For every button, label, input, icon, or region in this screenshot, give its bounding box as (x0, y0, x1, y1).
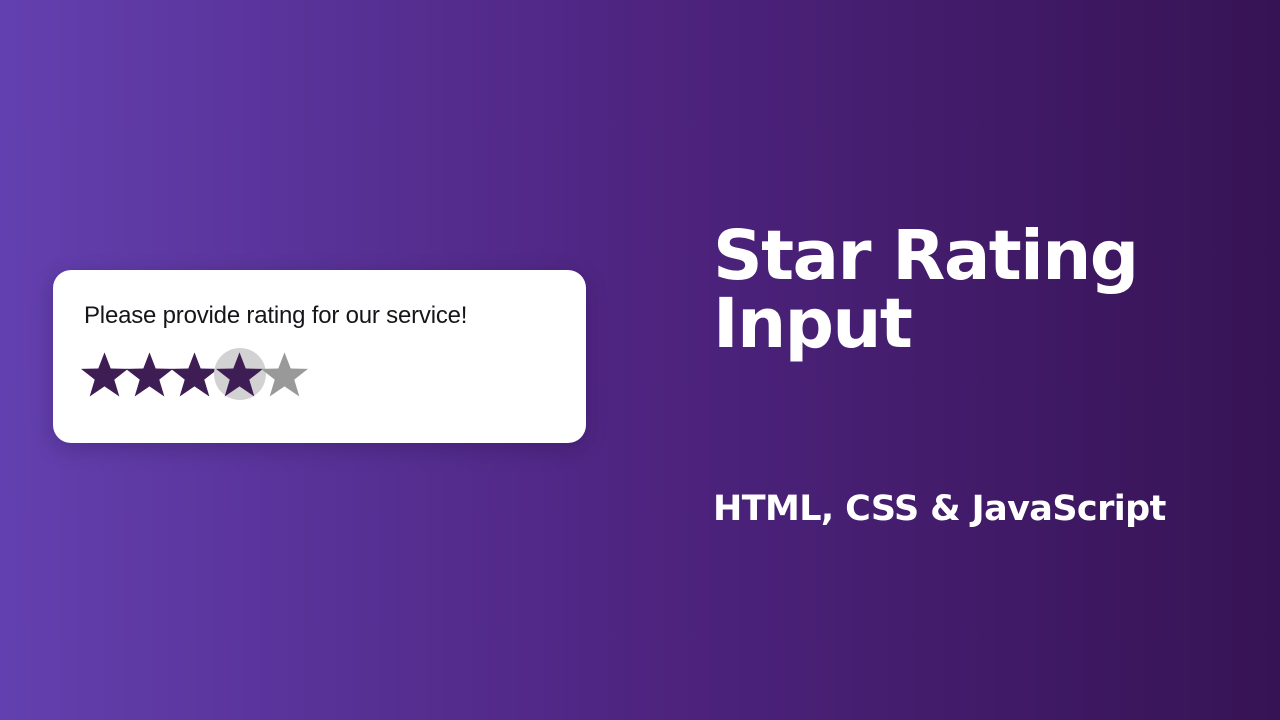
star-rating-5[interactable] (261, 348, 308, 400)
star-icon (171, 350, 218, 398)
page-subtitle: HTML, CSS & JavaScript (713, 489, 1166, 529)
star-rating-4[interactable] (216, 348, 263, 400)
page-title-line-2: Input (713, 284, 911, 364)
star-rating-3[interactable] (171, 348, 218, 400)
hero-title-block: Star Rating Input (713, 222, 1253, 359)
rating-card: Please provide rating for our service! (53, 270, 586, 443)
star-icon (216, 350, 263, 398)
star-rating-input[interactable] (81, 348, 306, 400)
star-rating-1[interactable] (81, 348, 128, 400)
star-icon (81, 350, 128, 398)
star-icon (126, 350, 173, 398)
star-icon (261, 350, 308, 398)
page-title: Star Rating Input (713, 222, 1253, 359)
slide-canvas: Please provide rating for our service! S… (0, 0, 1280, 720)
star-rating-2[interactable] (126, 348, 173, 400)
rating-prompt-label: Please provide rating for our service! (84, 302, 467, 330)
